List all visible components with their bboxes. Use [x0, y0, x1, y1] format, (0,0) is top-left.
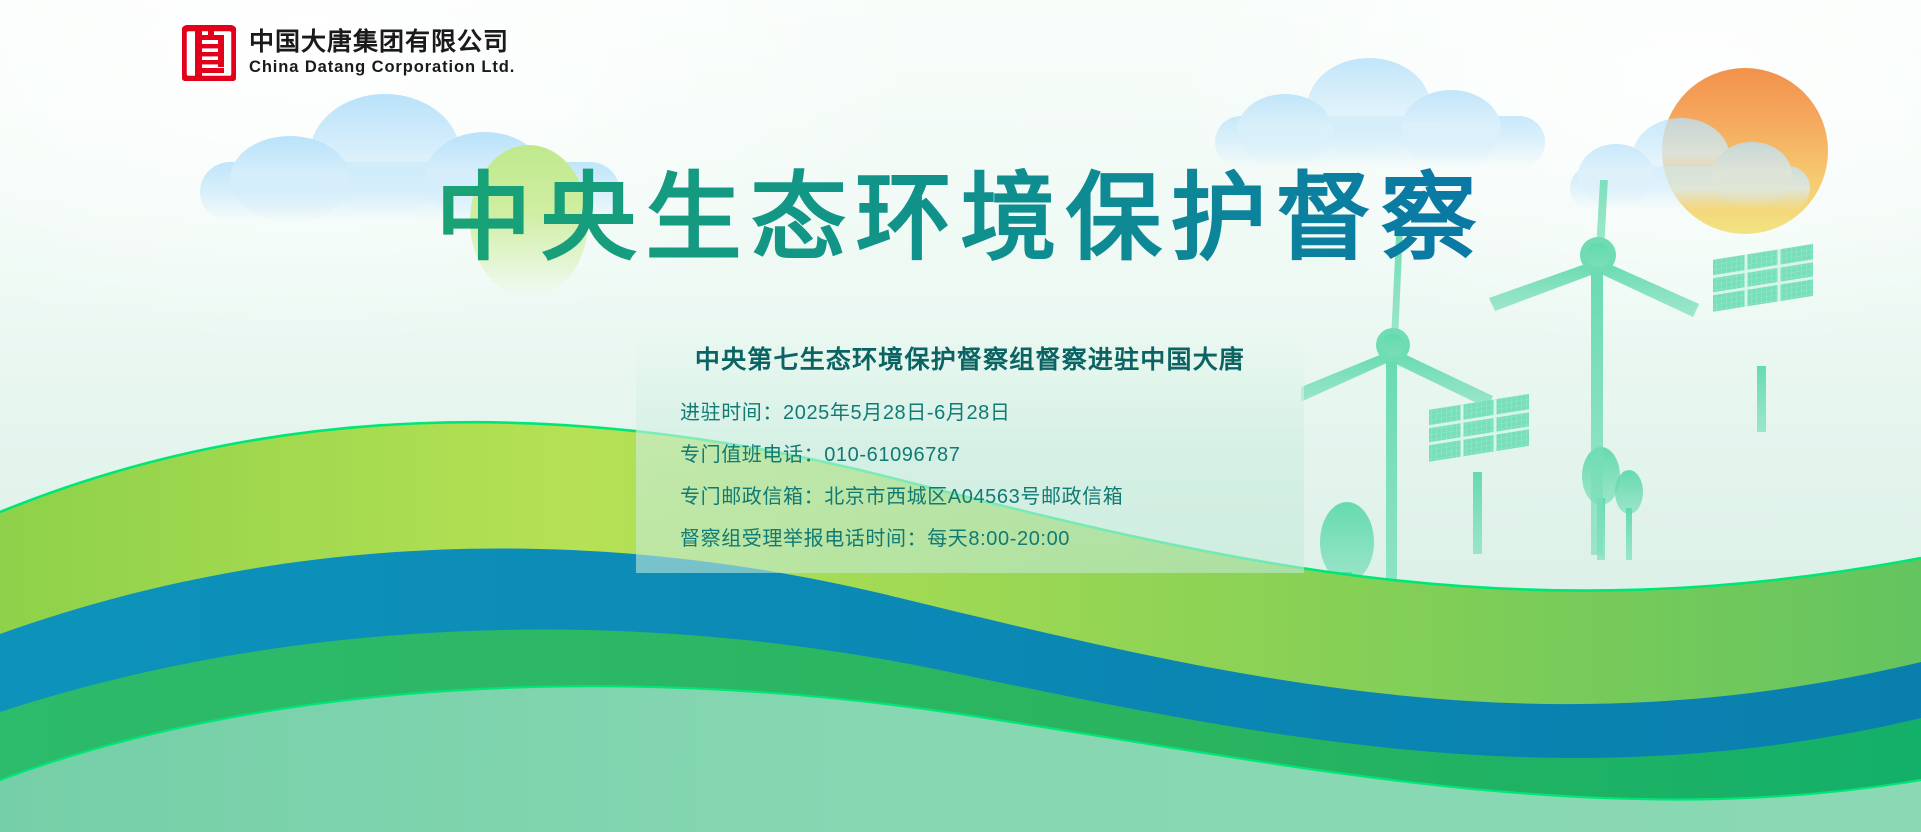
- brand-logo: 中国大唐集团有限公司 China Datang Corporation Ltd.: [182, 25, 515, 81]
- page-title: 中央生态环境保护督察: [0, 168, 1921, 269]
- cloud-icon: [1215, 58, 1545, 168]
- brand-name-en: China Datang Corporation Ltd.: [249, 58, 515, 78]
- info-line-hotline: 专门值班电话：010-61096787: [680, 445, 1260, 465]
- panel-heading: 中央第七生态环境保护督察组督察进驻中国大唐: [680, 344, 1260, 377]
- brand-name-cn: 中国大唐集团有限公司: [249, 28, 515, 57]
- info-line-stationing-period: 进驻时间：2025年5月28日-6月28日: [680, 403, 1260, 423]
- info-line-mailbox: 专门邮政信箱：北京市西城区A04563号邮政信箱: [680, 487, 1260, 507]
- info-line-hours: 督察组受理举报电话时间：每天8:00-20:00: [680, 529, 1260, 549]
- announcement-panel: 中央第七生态环境保护督察组督察进驻中国大唐 进驻时间：2025年5月28日-6月…: [636, 320, 1304, 573]
- campaign-banner: 中国大唐集团有限公司 China Datang Corporation Ltd.…: [0, 0, 1921, 832]
- datang-tang-seal-icon: [182, 25, 236, 81]
